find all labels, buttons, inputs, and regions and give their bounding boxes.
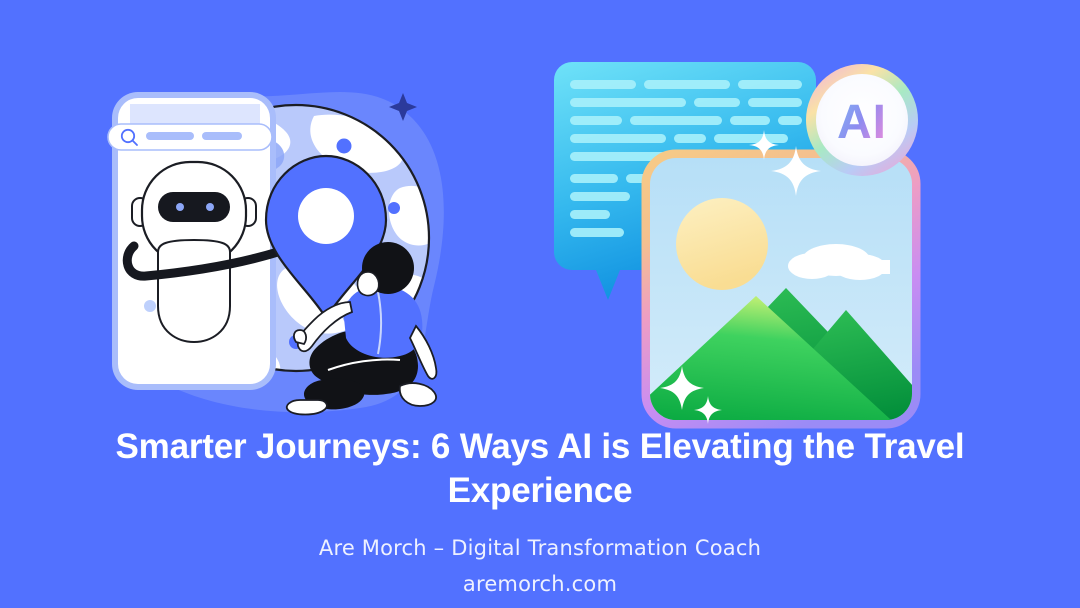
sun xyxy=(676,198,768,290)
phone-dot xyxy=(144,300,156,312)
ai-generated-image-illustration: AI xyxy=(550,48,940,438)
ai-badge: AI xyxy=(806,64,918,176)
ai-travel-assistant-illustration xyxy=(100,80,450,420)
photo-card xyxy=(612,154,950,430)
page-title: Smarter Journeys: 6 Ways AI is Elevating… xyxy=(0,425,1080,513)
author-byline: Are Morch – Digital Transformation Coach xyxy=(0,533,1080,563)
site-url: aremorch.com xyxy=(0,569,1080,599)
search-bar[interactable] xyxy=(108,124,272,150)
blog-banner: AI Smarter Journeys: 6 Ways AI is Elevat… xyxy=(0,0,1080,608)
text-block: Smarter Journeys: 6 Ways AI is Elevating… xyxy=(0,425,1080,599)
illustration-row: AI xyxy=(0,0,1080,420)
ai-badge-label: AI xyxy=(837,96,887,149)
